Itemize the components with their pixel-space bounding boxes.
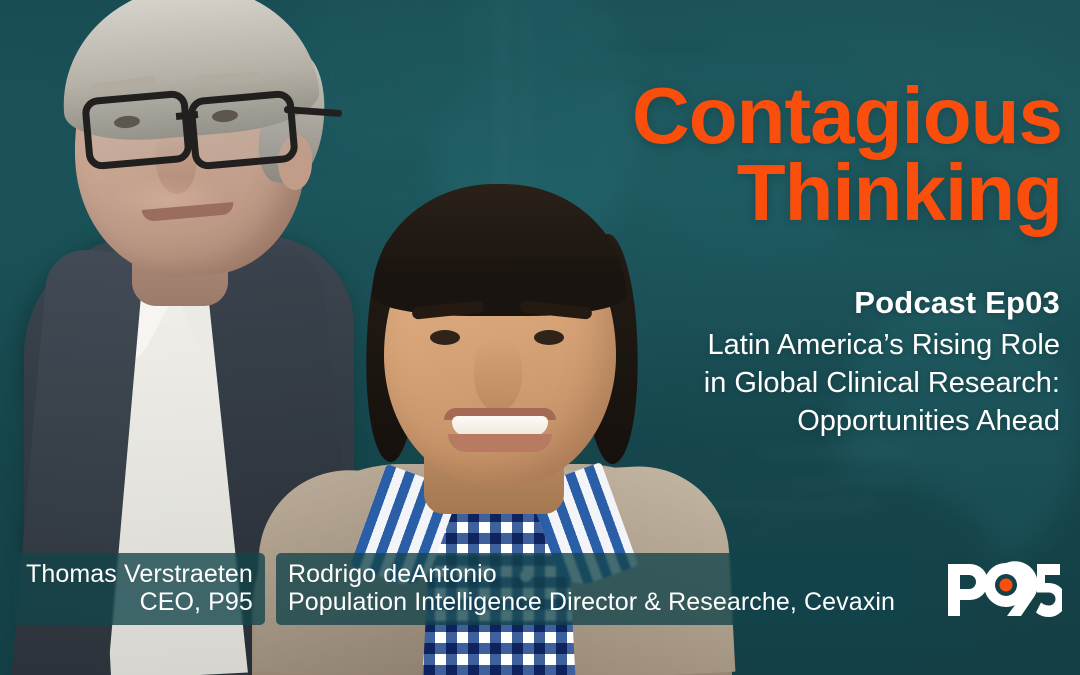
speaker-nameplate-thomas: Thomas Verstraeten CEO, P95 — [14, 553, 265, 625]
thomas-lens-right — [187, 90, 299, 171]
thomas-lens-left — [81, 90, 193, 171]
logo-digit-5 — [1036, 564, 1062, 617]
show-title: Contagious Thinking — [632, 78, 1062, 232]
logo-letter-p — [948, 564, 988, 616]
speaker-name: Rodrigo deAntonio — [288, 560, 895, 588]
podcast-episode-cover: Contagious Thinking Podcast Ep03 Latin A… — [0, 0, 1080, 675]
episode-number: Podcast Ep03 — [704, 283, 1060, 323]
rodrigo-hair — [372, 184, 626, 316]
episode-title-line-1: Latin America’s Rising Role — [704, 327, 1060, 365]
rodrigo-nose — [474, 338, 522, 412]
speaker-role: CEO, P95 — [26, 588, 253, 616]
rodrigo-teeth — [452, 416, 548, 436]
show-title-line-1: Contagious — [632, 78, 1062, 155]
rodrigo-eye-right — [534, 330, 564, 345]
p95-logo — [946, 561, 1062, 619]
thomas-eyeglasses — [78, 92, 308, 158]
speaker-name: Thomas Verstraeten — [26, 560, 253, 588]
rodrigo-eye-left — [430, 330, 460, 345]
show-title-line-2: Thinking — [632, 155, 1062, 232]
episode-title-line-3: Opportunities Ahead — [704, 403, 1060, 441]
rodrigo-lower-lip — [448, 434, 552, 452]
speaker-role: Population Intelligence Director & Resea… — [288, 588, 895, 616]
episode-title-line-2: in Global Clinical Research: — [704, 365, 1060, 403]
speaker-nameplate-rodrigo: Rodrigo deAntonio Population Intelligenc… — [276, 553, 907, 625]
episode-subtitle: Podcast Ep03 Latin America’s Rising Role… — [704, 283, 1060, 440]
logo-accent-dot — [1000, 579, 1013, 592]
